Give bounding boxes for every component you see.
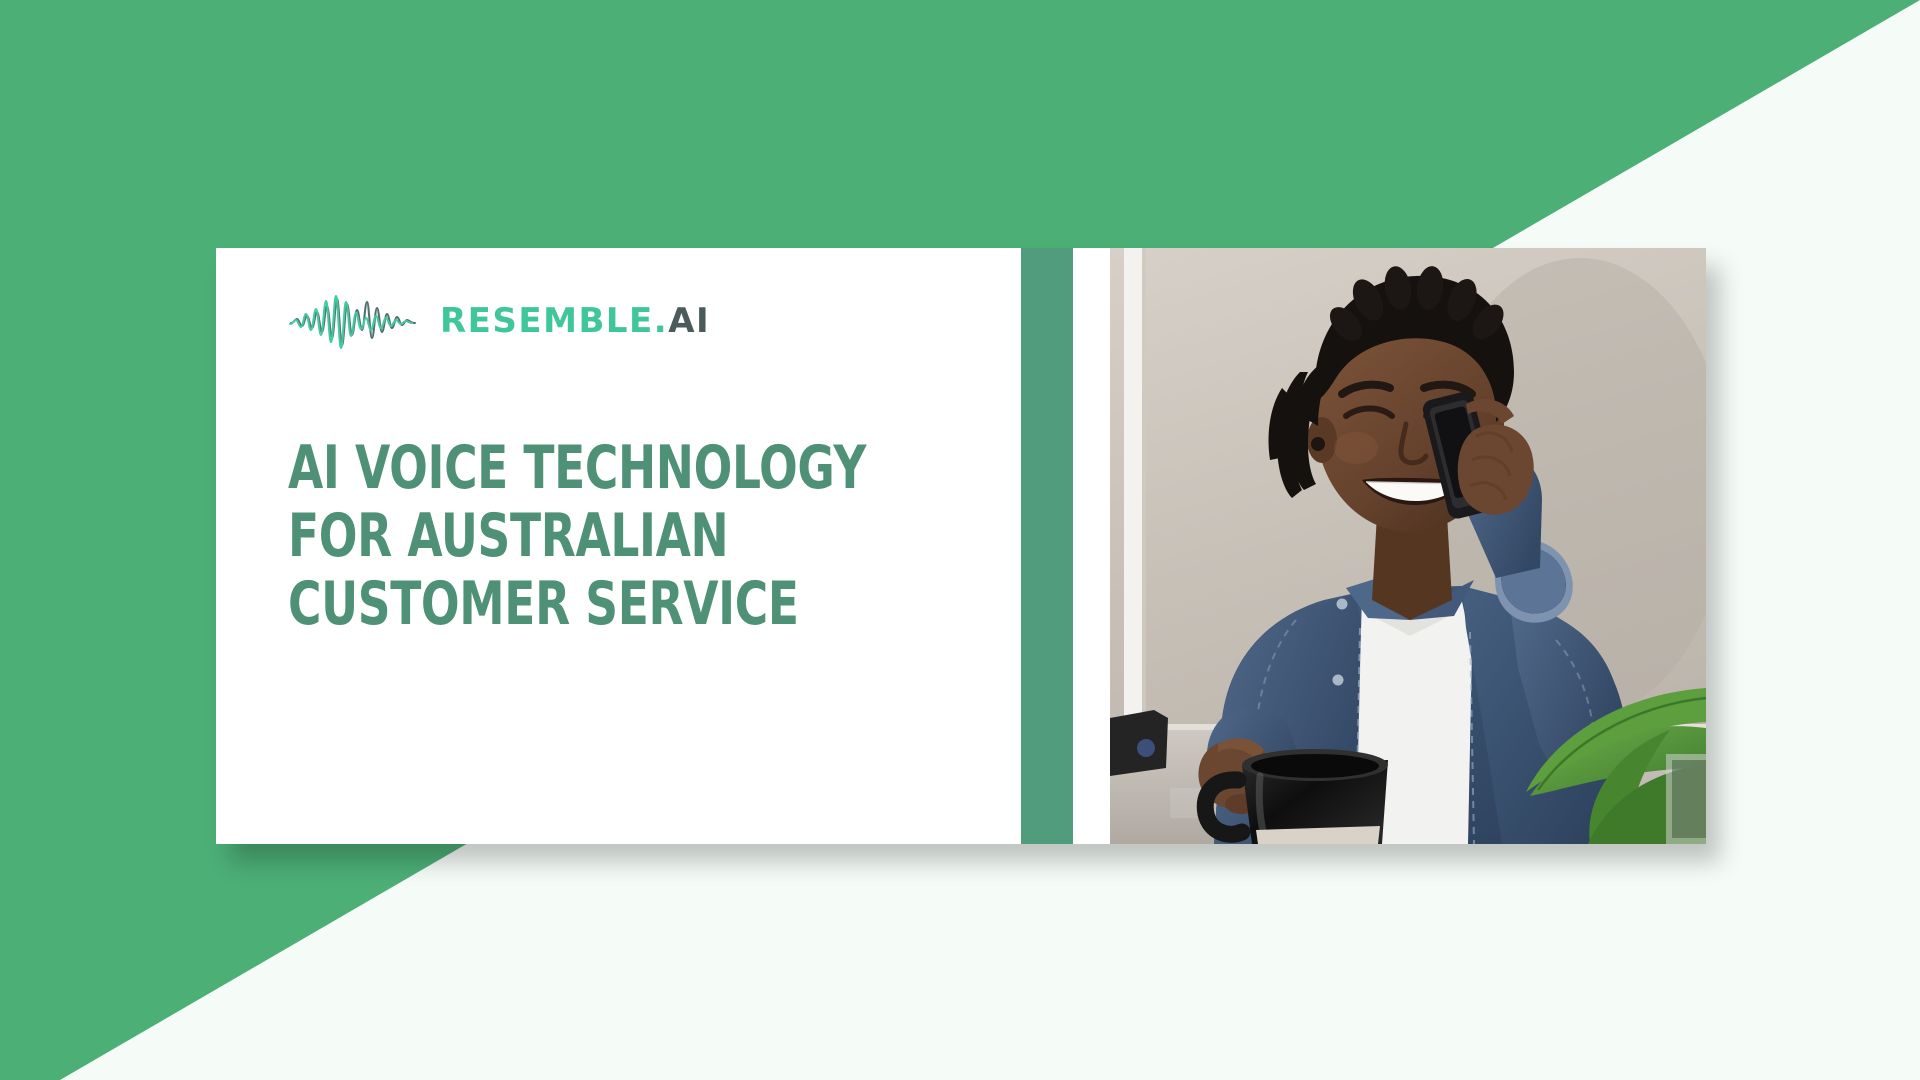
headline-line-2: FOR AUSTRALIAN [288,502,866,570]
content-card: RESEMBLE.AI AI VOICE TECHNOLOGY FOR AUST… [216,248,1706,844]
headline-line-1: AI VOICE TECHNOLOGY [288,434,866,502]
brand-wordmark: RESEMBLE.AI [440,304,710,338]
headline-line-3: CUSTOMER SERVICE [288,570,866,638]
page-title: AI VOICE TECHNOLOGY FOR AUSTRALIAN CUSTO… [288,434,866,638]
card-gutter [1073,248,1110,844]
card-text-panel: RESEMBLE.AI AI VOICE TECHNOLOGY FOR AUST… [216,248,1021,844]
brand-logo[interactable]: RESEMBLE.AI [288,290,710,352]
brand-name-suffix: AI [668,301,710,341]
hero-photo-illustration [1110,248,1706,844]
brand-name-dot: . [654,301,668,341]
hero-photo [1110,248,1706,844]
brand-name-primary: RESEMBLE [440,301,654,341]
audio-waveform-icon [288,290,418,352]
banner-canvas: RESEMBLE.AI AI VOICE TECHNOLOGY FOR AUST… [0,0,1920,1080]
teal-divider-bar [1021,248,1073,844]
